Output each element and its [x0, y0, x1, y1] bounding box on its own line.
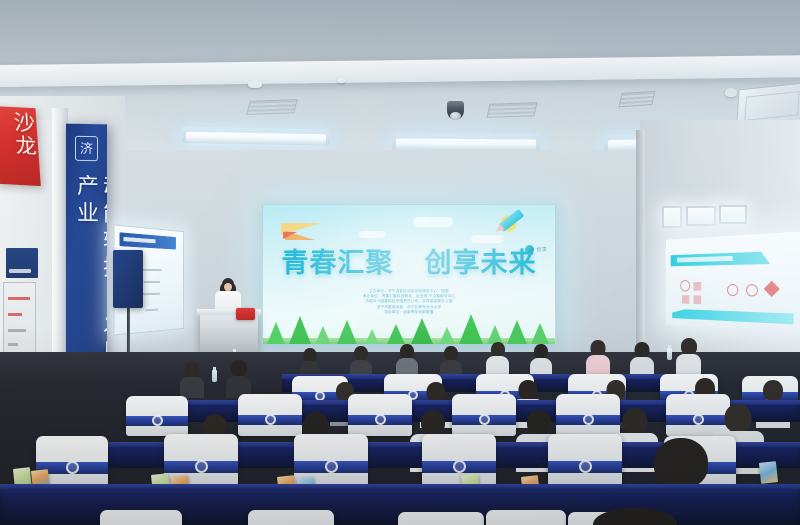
tree-icon: [439, 327, 455, 344]
chair-buckle: [375, 414, 386, 425]
wall-poster: [3, 282, 36, 362]
attendee: [226, 360, 251, 398]
tree-icon: [387, 324, 405, 344]
projection-title-text: [677, 256, 733, 263]
chair-buckle: [693, 414, 704, 425]
main-projector-screen: 创享 青春汇聚 创享未来 主办单位：济宁高新区科技创新服务中心／团委 承办单位：…: [262, 204, 556, 345]
attendee-torso: [486, 356, 509, 376]
display-content-line: [144, 281, 160, 283]
chair-with-cover: [100, 510, 182, 525]
attendee: [630, 342, 654, 376]
attendee: [440, 346, 462, 376]
attendee-torso: [586, 355, 610, 376]
attendee: [350, 346, 372, 376]
presenter-face: [224, 283, 232, 291]
attendee-head: [304, 348, 317, 362]
red-banner-text: 沙龙: [10, 111, 37, 158]
attendee: [396, 344, 418, 376]
poster-line: [8, 313, 22, 316]
poster-line: [8, 329, 26, 332]
attendee-head: [534, 344, 548, 359]
chair-with-cover: [248, 510, 334, 525]
display-content-line: [146, 309, 159, 312]
table-edge: [0, 484, 800, 489]
chair-buckle: [479, 414, 490, 425]
display-header-text: [124, 237, 156, 243]
right-wall-projection: [666, 231, 800, 332]
tree-icon: [411, 318, 433, 344]
attendee-torso: [676, 354, 701, 376]
attendee-head: [593, 508, 677, 525]
chair-with-cover: [126, 396, 188, 436]
smoke-detector-icon: [248, 80, 262, 88]
tree-icon: [365, 329, 379, 344]
chair-with-cover: [486, 510, 566, 525]
attendee-head: [491, 342, 505, 357]
chair-buckle: [195, 460, 208, 473]
square-icon: [682, 295, 689, 304]
projection-title-band: [671, 251, 770, 266]
attendee: [530, 344, 552, 376]
chair-with-cover: [422, 434, 496, 486]
window-pane: [719, 205, 747, 224]
attendee: [586, 340, 610, 376]
smoke-detector-icon: [337, 77, 346, 83]
tree-icon: [531, 323, 549, 344]
attendee: [676, 338, 701, 376]
chair-buckle: [579, 460, 592, 473]
tree-icon: [267, 322, 285, 344]
attendee-head: [527, 410, 551, 435]
chair-buckle: [325, 460, 338, 473]
ceiling-camera-icon: [447, 101, 464, 120]
banner-logo: 济: [75, 136, 98, 161]
square-icon: [694, 282, 702, 291]
slide-title: 青春汇聚 创享未来: [263, 247, 555, 279]
window-pane: [662, 206, 682, 228]
attendee-head: [763, 380, 783, 401]
chair-with-cover: [452, 394, 516, 436]
circle-icon: [746, 284, 758, 297]
tree-icon: [507, 320, 527, 344]
ceiling-vent: [618, 91, 655, 108]
attendee-head: [681, 338, 697, 355]
attendee-head: [231, 360, 247, 377]
display-header-bar: [120, 232, 176, 249]
chair-buckle: [265, 414, 276, 425]
smoke-detector-icon: [725, 88, 737, 97]
water-bottle: [667, 348, 672, 360]
chair-buckle: [152, 415, 163, 426]
paper-plane-icon: [281, 219, 337, 245]
speaker-on-tripod-stand: [127, 250, 130, 368]
tree-icon: [459, 314, 483, 344]
attendee-head: [421, 410, 445, 435]
tree-icon: [315, 326, 331, 344]
attendee-head: [185, 362, 200, 378]
poster-line: [8, 343, 18, 346]
floor-and-audience-area: 山河: [0, 352, 800, 525]
plane-tail: [283, 232, 297, 239]
red-hanging-banner: 沙龙: [0, 106, 41, 186]
chair-with-cover: [348, 394, 412, 436]
attendee-head: [519, 380, 538, 400]
attendee-foreground-head: [580, 508, 690, 525]
attendee: [486, 342, 509, 376]
chair-buckle: [66, 461, 79, 474]
attendee-head: [623, 408, 648, 434]
attendee: [180, 362, 204, 398]
attendee-head: [635, 342, 650, 358]
attendee-head: [725, 404, 752, 432]
eyeglasses-icon: [652, 460, 682, 468]
chair-buckle: [583, 414, 594, 425]
projection-footer-band: [672, 309, 793, 325]
cloud-icon: [413, 217, 453, 227]
attendee-torso: [180, 377, 204, 398]
square-icon: [694, 295, 702, 304]
window-pane: [686, 206, 716, 226]
diamond-icon: [764, 281, 780, 297]
attendee-head: [354, 346, 368, 361]
podium-red-item: [236, 308, 255, 320]
conference-hall-photo: 沙龙 济 动能转换 发展风口产业: [0, 0, 800, 525]
circle-icon: [680, 280, 690, 291]
fluorescent-tube-light: [396, 139, 536, 151]
ceiling-vent: [246, 99, 297, 115]
ceiling-vent: [487, 102, 538, 118]
attendee-head: [400, 344, 414, 359]
chair-with-cover: [556, 394, 620, 436]
chair-buckle: [453, 460, 466, 473]
cloud-icon: [359, 231, 385, 238]
poster-line: [8, 297, 30, 300]
attendee: [300, 348, 320, 376]
circle-icon: [727, 284, 738, 296]
tree-icon: [289, 316, 311, 344]
cloud-icon: [471, 235, 503, 243]
tree-icon: [337, 320, 357, 344]
chair-with-cover: [548, 434, 622, 486]
attendee-head: [591, 340, 606, 356]
attendee-head: [427, 382, 446, 402]
chair-with-cover: [398, 512, 484, 525]
pencil-icon: [494, 208, 527, 237]
tree-silhouette-row: [263, 310, 555, 344]
water-bottle: [212, 370, 217, 382]
wall-sign-plate: [6, 248, 38, 278]
brochure: [759, 461, 778, 484]
attendee-head: [444, 346, 458, 361]
